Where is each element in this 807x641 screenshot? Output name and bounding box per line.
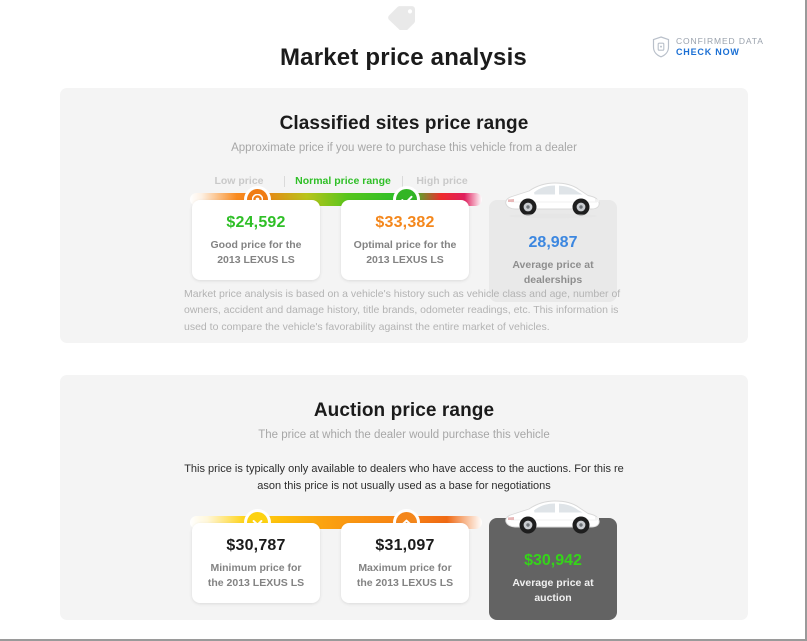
minimum-price-caption: Minimum price for the 2013 LEXUS LS: [198, 561, 314, 591]
classified-section-subtitle: Approximate price if you were to purchas…: [60, 142, 748, 154]
maximum-price-card: $31,097 Maximum price for the 2013 LEXUS…: [341, 523, 469, 603]
classified-range-legend: Low price Normal price range High price: [194, 175, 482, 187]
minimum-price-value: $30,787: [198, 537, 314, 555]
minimum-price-caption-line1: Minimum price for: [210, 562, 301, 574]
good-price-caption-line2: 2013 LEXUS LS: [217, 254, 295, 266]
maximum-price-caption-line1: Maximum price for: [358, 562, 451, 574]
classified-description-note: Market price analysis is based on a vehi…: [184, 286, 624, 335]
price-tag-icon: [386, 4, 420, 30]
shield-check-icon: [652, 36, 670, 58]
optimal-price-caption-line1: Optimal price for the: [354, 239, 457, 251]
legend-low-price: Low price: [194, 175, 284, 187]
average-dealership-caption-line1: Average price at: [512, 259, 593, 271]
auction-section-subtitle: The price at which the dealer would purc…: [60, 429, 748, 441]
maximum-price-caption: Maximum price for the 2013 LEXUS LS: [347, 561, 463, 591]
auction-section-title: Auction price range: [60, 400, 748, 422]
average-auction-price-value: $30,942: [497, 552, 609, 570]
optimal-price-card: $33,382 Optimal price for the 2013 LEXUS…: [341, 200, 469, 280]
average-dealership-price-value: 28,987: [497, 234, 609, 252]
average-auction-caption-line1: Average price at: [512, 577, 593, 589]
optimal-price-value: $33,382: [347, 214, 463, 232]
white-sedan-car-icon: [499, 494, 607, 538]
legend-high-price: High price: [402, 175, 482, 187]
auction-note-line1: This price is typically only available t…: [184, 463, 624, 475]
confirmed-data-label: CONFIRMED DATA: [676, 36, 764, 47]
average-dealership-price-caption: Average price at dealerships: [497, 258, 609, 288]
maximum-price-value: $31,097: [347, 537, 463, 555]
confirmed-data-badge[interactable]: CONFIRMED DATA CHECK NOW: [652, 36, 764, 58]
optimal-price-caption-line2: 2013 LEXUS LS: [366, 254, 444, 266]
white-sedan-car-icon: [499, 176, 607, 220]
maximum-price-caption-line2: the 2013 LEXUS LS: [357, 577, 453, 589]
good-price-caption-line1: Good price for the: [210, 239, 301, 251]
minimum-price-card: $30,787 Minimum price for the 2013 LEXUS…: [192, 523, 320, 603]
optimal-price-caption: Optimal price for the 2013 LEXUS LS: [347, 238, 463, 268]
average-dealership-caption-line2: dealerships: [524, 274, 582, 286]
average-auction-price-caption: Average price at auction: [497, 576, 609, 606]
auction-note-line2: ason this price is not usually used as a…: [257, 480, 551, 492]
classified-section-title: Classified sites price range: [60, 113, 748, 135]
good-price-card: $24,592 Good price for the 2013 LEXUS LS: [192, 200, 320, 280]
average-auction-price-card: $30,942 Average price at auction: [489, 518, 617, 620]
good-price-caption: Good price for the 2013 LEXUS LS: [198, 238, 314, 268]
auction-description-note: This price is typically only available t…: [184, 461, 624, 495]
legend-normal-price-range: Normal price range: [284, 175, 402, 187]
good-price-value: $24,592: [198, 214, 314, 232]
minimum-price-caption-line2: the 2013 LEXUS LS: [208, 577, 304, 589]
average-auction-caption-line2: auction: [534, 592, 571, 604]
check-now-link[interactable]: CHECK NOW: [676, 47, 764, 58]
